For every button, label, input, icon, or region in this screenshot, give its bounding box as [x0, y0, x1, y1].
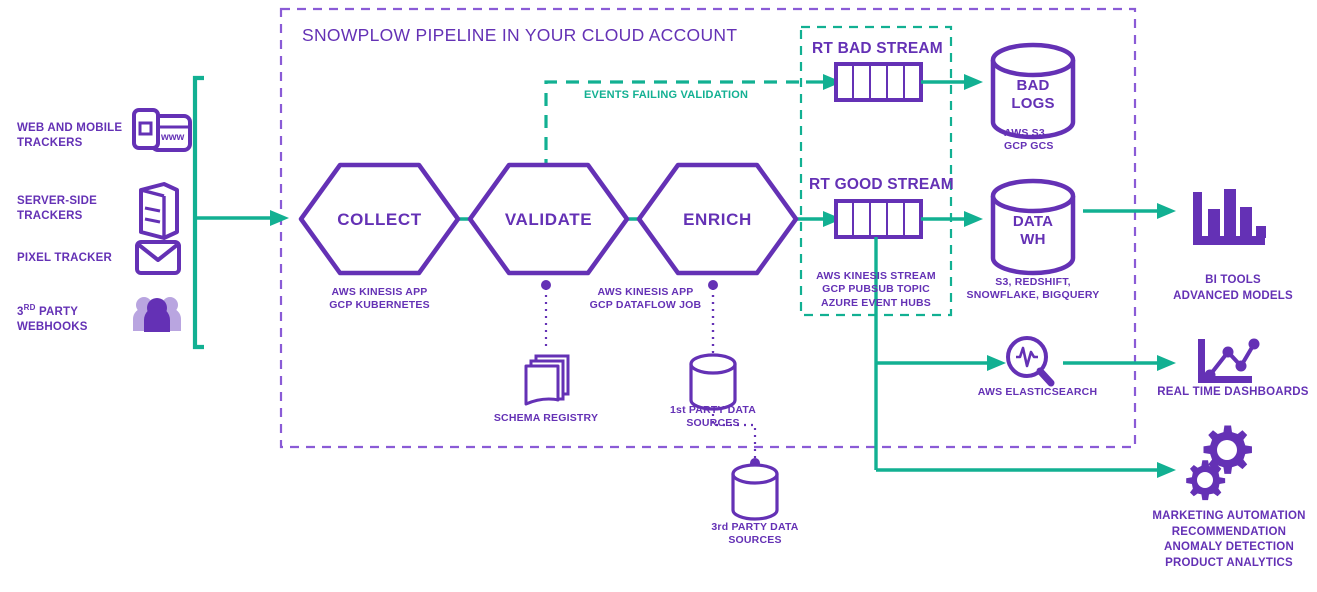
source-label-pixel-tracker: PIXEL TRACKER [17, 251, 132, 266]
line-chart-icon [1198, 339, 1260, 384]
output-label-bi-tools: BI TOOLS ADVANCED MODELS [1148, 273, 1317, 304]
elasticsearch-label: AWS ELASTICSEARCH [960, 386, 1115, 399]
stage-sublabel-collect: AWS KINESIS APP GCP KUBERNETES [317, 286, 442, 313]
page-title: SNOWPLOW PIPELINE IN YOUR CLOUD ACCOUNT [302, 25, 737, 46]
elasticsearch-to-dashboards-arrow [1063, 355, 1176, 371]
people-icon [133, 297, 181, 332]
bad-logs-sublabel: AWS S3 GCP GCS [983, 127, 1104, 154]
rt-good-stream-title: RT GOOD STREAM [809, 175, 954, 195]
rt-bad-stream-title: RT BAD STREAM [812, 39, 943, 59]
data-wh-to-bi-tools-arrow [1083, 203, 1176, 219]
server-icon [141, 184, 177, 238]
bad-logs-label: BAD LOGS [993, 77, 1073, 112]
envelope-icon [137, 242, 179, 273]
search-waveform-icon [1008, 338, 1051, 383]
branch-to-applications-arrow [876, 462, 1176, 478]
gears-icon [1186, 425, 1252, 500]
source-label-third-party-webhooks: 3RD PARTY WEBHOOKS [17, 303, 127, 334]
data-wh-sublabel: S3, REDSHIFT, SNOWFLAKE, BIGQUERY [953, 276, 1113, 303]
schema-registry-label: SCHEMA REGISTRY [486, 412, 606, 425]
mobile-browser-icon: www [134, 110, 190, 150]
stage-label-enrich: ENRICH [639, 209, 796, 231]
database-icon-third-party [733, 465, 777, 519]
documents-icon [526, 356, 568, 404]
rt-bad-stream-box [836, 64, 921, 100]
output-label-real-time-dashboards: REAL TIME DASHBOARDS [1143, 385, 1317, 401]
rt-good-stream-box [836, 201, 921, 237]
svg-text:www: www [160, 132, 185, 143]
stage-label-validate: VALIDATE [470, 209, 627, 231]
source-label-web-mobile: WEB AND MOBILE TRACKERS [17, 121, 127, 150]
bar-chart-icon [1193, 189, 1266, 245]
third-party-sources-label: 3rd PARTY DATA SOURCES [695, 521, 815, 548]
branch-to-elasticsearch-arrow [876, 355, 1006, 371]
stage-sublabel-validate: AWS KINESIS APP GCP DATAFLOW JOB [573, 286, 718, 313]
source-label-server-side: SERVER-SIDE TRACKERS [17, 194, 127, 223]
stage-label-collect: COLLECT [301, 209, 458, 231]
diagram-canvas: www [0, 0, 1317, 592]
sources-to-collect-arrow [196, 210, 289, 226]
failing-validation-label: EVENTS FAILING VALIDATION [584, 89, 748, 101]
first-party-sources-label: 1st PARTY DATA SOURCES [653, 404, 773, 431]
source-bracket [195, 78, 204, 347]
validate-to-schema-registry-connector [541, 280, 551, 348]
database-icon-first-party [691, 355, 735, 409]
data-wh-label: DATA WH [993, 213, 1073, 248]
rt-good-stream-sublabel: AWS KINESIS STREAM GCP PUBSUB TOPIC AZUR… [806, 270, 946, 310]
output-label-applications: MARKETING AUTOMATION RECOMMENDATION ANOM… [1140, 509, 1317, 571]
